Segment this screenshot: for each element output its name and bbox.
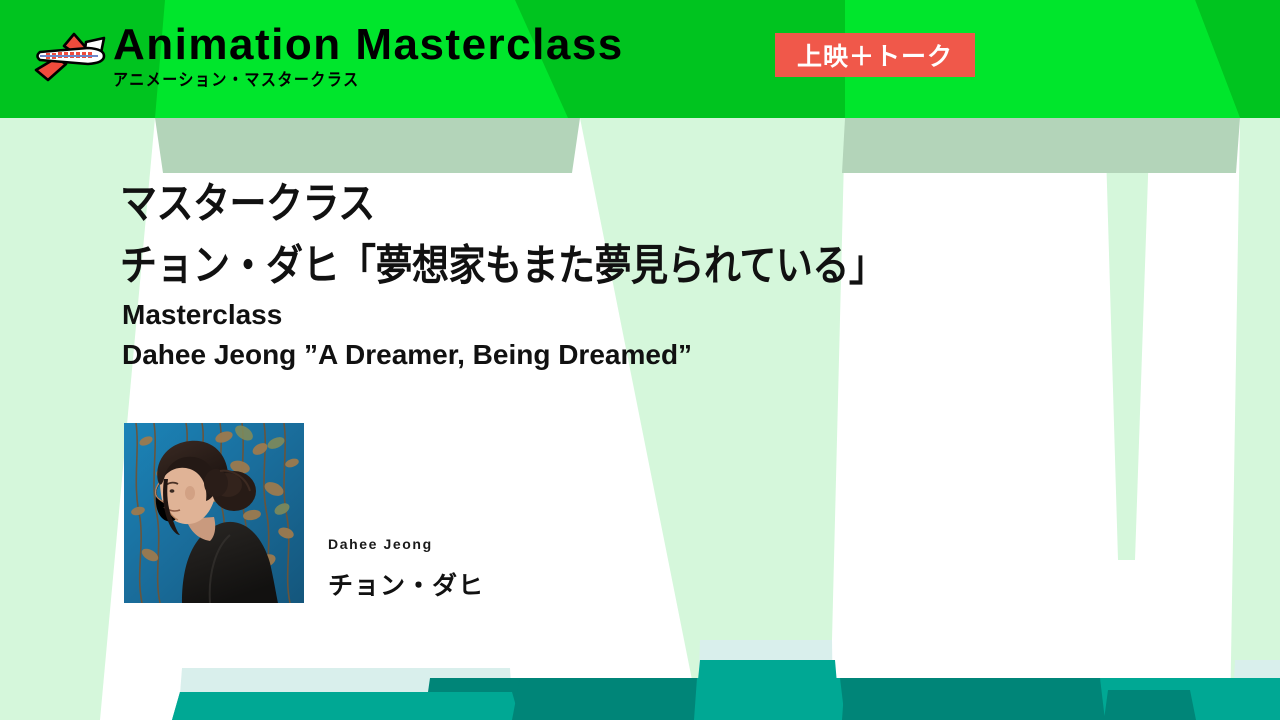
guest-name-japanese: チョン・ダヒ	[328, 566, 484, 602]
slide-content: マスタークラス チョン・ダヒ「夢想家もまた夢見られている」 Masterclas…	[0, 118, 1280, 720]
event-type-badge: 上映＋トーク	[775, 33, 975, 77]
guest-portrait-photo	[124, 423, 304, 603]
brand-subtitle-japanese: アニメーション・マスタークラス	[113, 70, 624, 90]
guest-portrait-image	[124, 423, 304, 603]
brand-block: Animation Masterclass アニメーション・マスタークラス	[113, 22, 624, 88]
title-english-line-1: Masterclass	[122, 295, 692, 335]
title-japanese-line-2: チョン・ダヒ「夢想家もまた夢見られている」	[120, 235, 885, 297]
site-header: Animation Masterclass アニメーション・マスタークラス 上映…	[0, 0, 1280, 118]
brand-title: Animation Masterclass	[113, 22, 624, 68]
guest-name-english: Dahee Jeong	[328, 536, 484, 552]
event-type-badge-label: 上映＋トーク	[797, 37, 953, 73]
title-english-line-2: Dahee Jeong ”A Dreamer, Being Dreamed”	[122, 335, 692, 375]
airplane-icon	[30, 30, 114, 86]
guest-name-block: Dahee Jeong チョン・ダヒ	[328, 536, 484, 602]
page-title: マスタークラス チョン・ダヒ「夢想家もまた夢見られている」	[120, 173, 885, 289]
poster-slide: Animation Masterclass アニメーション・マスタークラス 上映…	[0, 0, 1280, 720]
page-subtitle: Masterclass Dahee Jeong ”A Dreamer, Bein…	[122, 295, 692, 375]
title-japanese-line-1: マスタークラス	[120, 173, 885, 235]
